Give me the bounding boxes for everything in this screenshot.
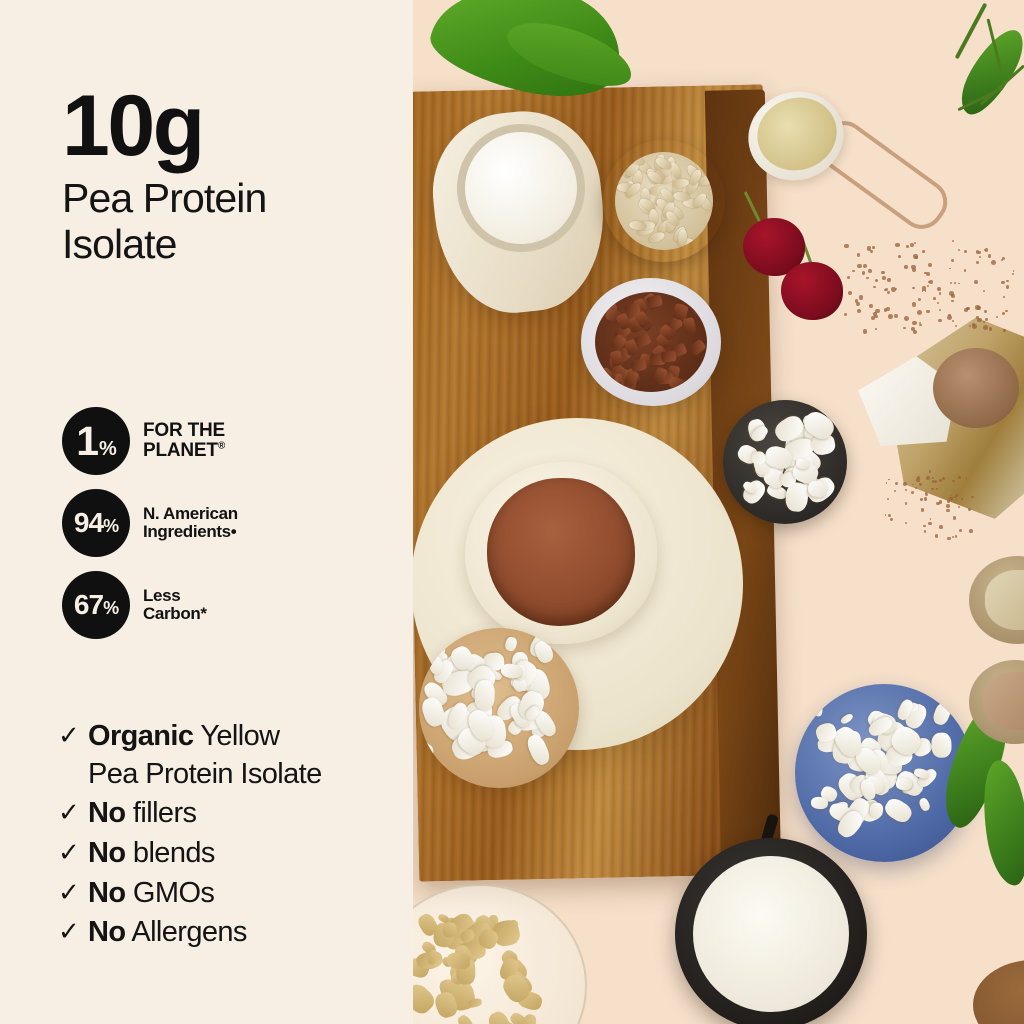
certification-badges: 1% FOR THE PLANET® 94% N. American Ingr bbox=[62, 407, 407, 653]
wooden-bowl bbox=[973, 960, 1024, 1024]
dark-stone-bowl bbox=[723, 400, 847, 524]
sunflower-seeds bbox=[615, 152, 713, 250]
list-item-text: No fillers bbox=[88, 795, 196, 833]
cocoa-powder bbox=[487, 478, 635, 626]
protein-amount: 10g bbox=[62, 86, 407, 168]
badge-circle: 1% bbox=[62, 407, 130, 475]
list-item-text: No Allergens bbox=[88, 914, 247, 952]
badge-circle: 67% bbox=[62, 571, 130, 639]
cacao-nibs bbox=[595, 292, 707, 392]
info-panel: 10g Pea Protein Isolate 1% FOR THE PLANE… bbox=[0, 0, 413, 1024]
stone-dish bbox=[933, 348, 1019, 428]
badge-north-american-ingredients: 94% N. American Ingredients• bbox=[62, 489, 407, 557]
list-item: ✓ No fillers bbox=[58, 795, 413, 833]
check-icon: ✓ bbox=[58, 795, 88, 830]
badge-label: Less Carbon* bbox=[143, 587, 207, 623]
blue-plate bbox=[795, 684, 973, 862]
product-infographic: 10g Pea Protein Isolate 1% FOR THE PLANE… bbox=[0, 0, 1024, 1024]
footnote-marker: • bbox=[231, 522, 237, 541]
check-icon: ✓ bbox=[58, 718, 88, 753]
product-name: Pea Protein Isolate bbox=[62, 176, 407, 268]
list-item-text: No blends bbox=[88, 835, 215, 873]
white-powder bbox=[693, 856, 849, 1012]
list-item-text: Organic Yellow Pea Protein Isolate bbox=[88, 718, 322, 793]
cherry bbox=[781, 262, 843, 320]
list-item-text: No GMOs bbox=[88, 875, 214, 913]
product-name-line1: Pea Protein bbox=[62, 176, 407, 222]
badge-one-percent-for-the-planet: 1% FOR THE PLANET® bbox=[62, 407, 407, 475]
ingredient-flatlay-photo bbox=[413, 0, 1024, 1024]
headline-block: 10g Pea Protein Isolate bbox=[62, 86, 407, 268]
claim-emphasis: Organic bbox=[88, 720, 193, 752]
list-item: ✓ No blends bbox=[58, 835, 413, 873]
badge-label-line2: PLANET® bbox=[143, 441, 225, 461]
badge-value: 1% bbox=[76, 421, 116, 462]
badge-circle: 94% bbox=[62, 489, 130, 557]
product-name-line2: Isolate bbox=[62, 222, 407, 268]
badge-label-line1: FOR THE bbox=[143, 421, 225, 441]
glass-plate bbox=[413, 884, 587, 1024]
badge-label-line1: N. American bbox=[143, 505, 238, 523]
check-icon: ✓ bbox=[58, 875, 88, 910]
badge-value: 94% bbox=[74, 509, 118, 537]
registered-trademark-mark: ® bbox=[218, 441, 225, 452]
badge-label: FOR THE PLANET® bbox=[143, 421, 225, 461]
claim-emphasis: No bbox=[88, 877, 125, 909]
list-item: ✓ No GMOs bbox=[58, 875, 413, 913]
badge-less-carbon: 67% Less Carbon* bbox=[62, 571, 407, 639]
claim-emphasis: No bbox=[88, 797, 125, 829]
list-item: ✓ Organic Yellow Pea Protein Isolate bbox=[58, 718, 413, 793]
badge-label-line2: Carbon* bbox=[143, 605, 207, 623]
check-icon: ✓ bbox=[58, 914, 88, 949]
claim-emphasis: No bbox=[88, 837, 125, 869]
badge-label-line2: Ingredients• bbox=[143, 523, 238, 541]
badge-value: 67% bbox=[74, 591, 118, 619]
check-icon: ✓ bbox=[58, 835, 88, 870]
product-claims-list: ✓ Organic Yellow Pea Protein Isolate ✓ N… bbox=[58, 718, 413, 954]
herb-stem bbox=[955, 3, 988, 60]
claim-continuation: Pea Protein Isolate bbox=[88, 756, 322, 794]
footnote-marker: * bbox=[200, 604, 206, 623]
claim-emphasis: No bbox=[88, 916, 125, 948]
list-item: ✓ No Allergens bbox=[58, 914, 413, 952]
tan-protein-bowl bbox=[419, 628, 579, 788]
badge-label-line1: Less bbox=[143, 587, 207, 605]
badge-label: N. American Ingredients• bbox=[143, 505, 238, 541]
